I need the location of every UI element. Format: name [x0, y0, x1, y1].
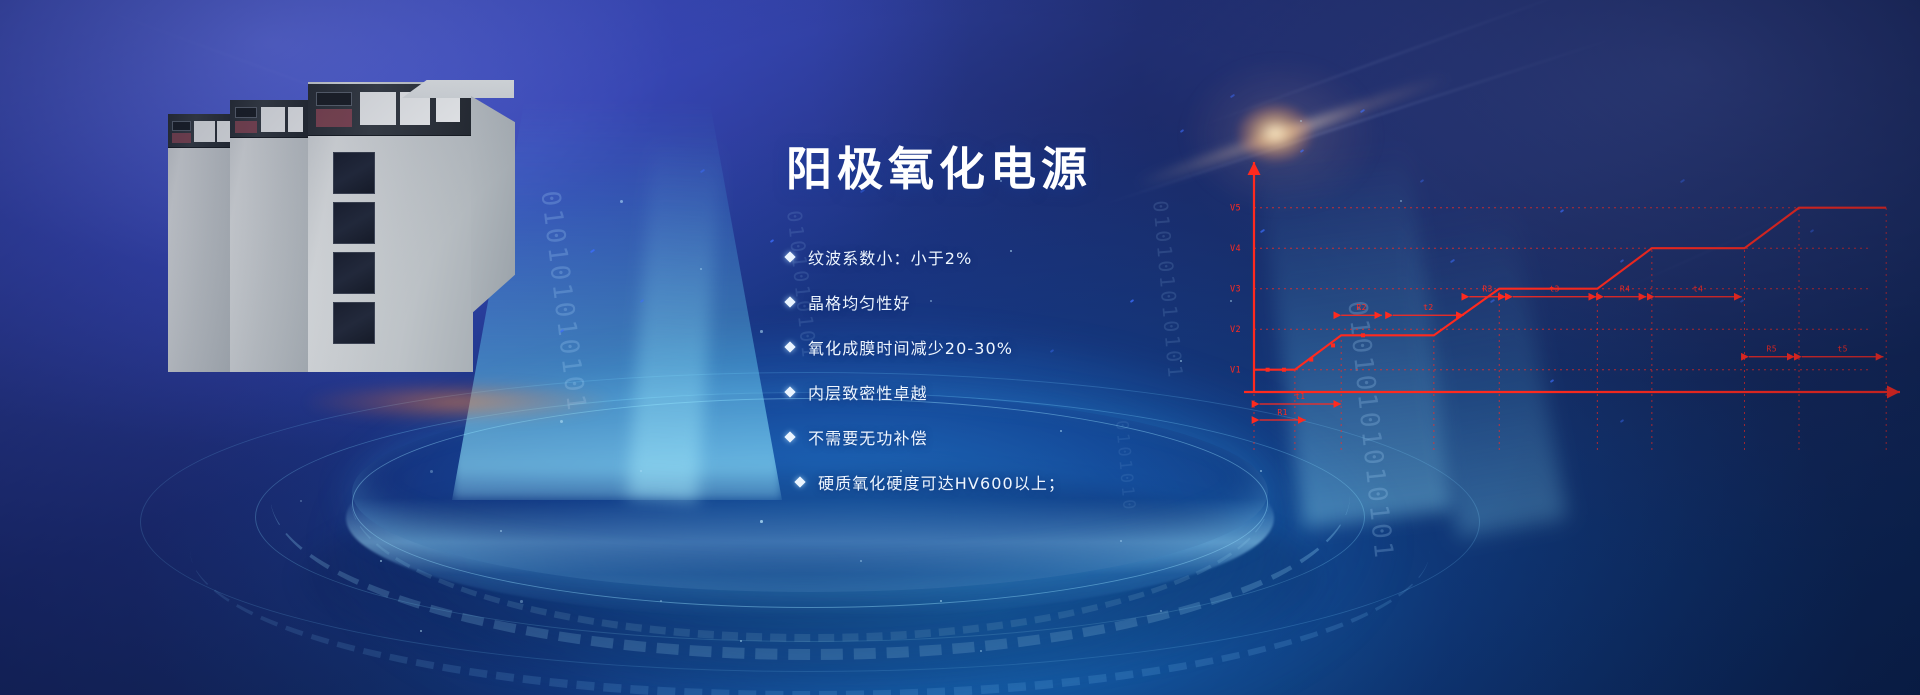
chart-series-line [1254, 208, 1886, 370]
cabinet-label-plate [360, 92, 396, 125]
cabinet-vent-panel [333, 152, 375, 194]
y-tick-label: V5 [1230, 204, 1241, 214]
span-label: R4 [1620, 285, 1630, 294]
cabinet-display-screen [316, 92, 352, 106]
cabinet-middle [230, 100, 308, 372]
feature-label: 氧化成膜时间减少20-30% [808, 335, 1013, 359]
span-label: t3 [1549, 285, 1559, 294]
cabinet-keypad [172, 133, 191, 143]
feature-label: 不需要无功补偿 [808, 425, 928, 449]
diamond-bullet-icon [784, 252, 795, 263]
span-label: R2 [1356, 303, 1366, 312]
y-tick-label: V2 [1230, 325, 1241, 335]
cabinet-label-plate [194, 121, 215, 142]
span-label: R5 [1767, 345, 1777, 354]
feature-label: 晶格均匀性好 [808, 290, 911, 314]
point-marker [1331, 343, 1335, 347]
cabinet-label-plate [261, 107, 285, 132]
diamond-bullet-icon [784, 387, 795, 398]
point-marker [1266, 368, 1270, 372]
cabinet-label-plate [288, 107, 303, 132]
span-label: t1 [1295, 392, 1305, 401]
cabinet-label-plate [217, 121, 230, 142]
chart-point-markers [1266, 333, 1365, 371]
diamond-bullet-icon [794, 477, 805, 488]
chart-axes [1244, 162, 1900, 392]
cabinet-breaker-plate [436, 94, 460, 122]
cabinet-vent-panel [333, 252, 375, 294]
product-banner: 010101010101 0101010101 010101010101 010… [0, 0, 1920, 695]
y-tick-label: V3 [1230, 285, 1241, 295]
span-label: R3 [1482, 285, 1492, 294]
diamond-bullet-icon [784, 297, 795, 308]
cabinet-keypad [316, 109, 352, 127]
cabinet-vent-panel [333, 202, 375, 244]
cabinet-body [168, 114, 234, 372]
diamond-bullet-icon [784, 432, 795, 443]
feature-label: 纹波系数小：小于2% [808, 245, 972, 269]
chart-gridlines [1254, 208, 1886, 450]
chart-svg: R1t1R2t2R3t3R4t4R5t5 V1V2V3V4V5 [1240, 150, 1920, 480]
cabinet-display-screen [172, 121, 191, 131]
chart-span-annotations: R1t1R2t2R3t3R4t4R5t5 [1259, 285, 1883, 420]
particle [1180, 129, 1184, 133]
feature-label: 硬质氧化硬度可达HV600以上； [818, 470, 1065, 494]
cabinet-left [168, 114, 234, 372]
feature-label: 内层致密性卓越 [808, 380, 928, 404]
cabinet-display-screen [235, 107, 257, 118]
cabinet-vent-panel [333, 302, 375, 344]
y-tick-label: V4 [1230, 244, 1241, 254]
point-marker [1282, 368, 1286, 372]
particle [770, 239, 774, 243]
y-tick-label: V1 [1230, 366, 1241, 376]
diamond-bullet-icon [784, 342, 795, 353]
point-marker [1309, 358, 1313, 362]
cabinet-right [308, 82, 473, 372]
span-label: t5 [1837, 345, 1847, 354]
cabinet-keypad [235, 121, 257, 133]
span-label: t2 [1423, 303, 1433, 312]
voltage-step-chart: R1t1R2t2R3t3R4t4R5t5 V1V2V3V4V5 [1240, 150, 1920, 480]
cabinet-body [230, 100, 308, 372]
span-label: t4 [1693, 285, 1703, 294]
point-marker [1361, 333, 1365, 337]
cabinet-accent-glow [308, 382, 608, 422]
power-supply-cabinets [168, 82, 598, 392]
cabinet-side-face [471, 96, 515, 314]
span-label: R1 [1277, 408, 1287, 417]
